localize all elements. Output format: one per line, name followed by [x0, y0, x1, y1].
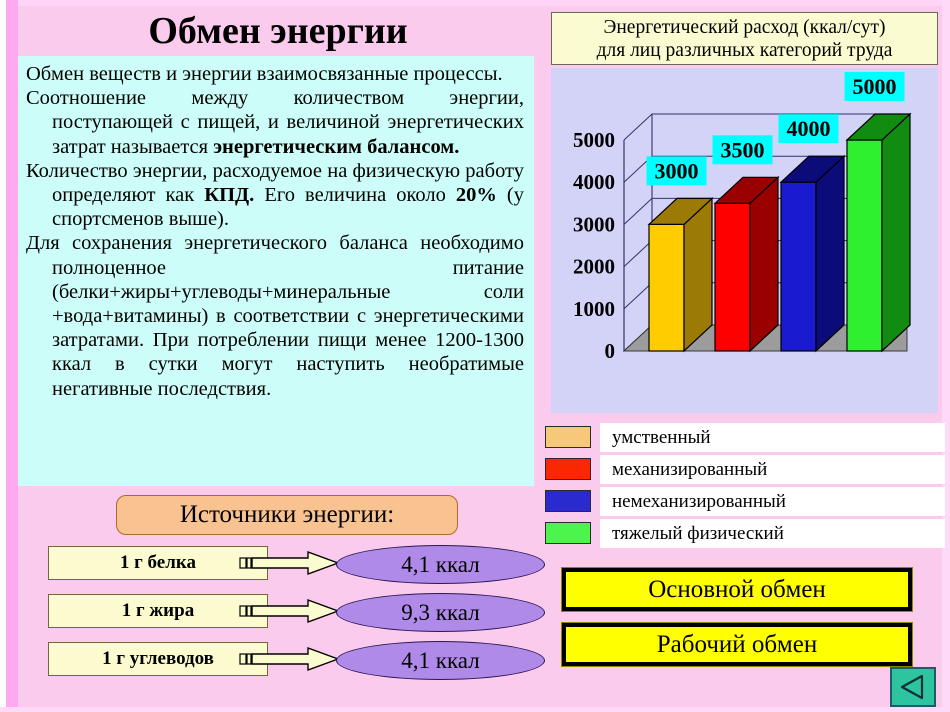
source-substance-label: 1 г жира	[122, 600, 194, 622]
body-text-panel: Обмен веществ и энергии взаимосвязанные …	[18, 56, 534, 486]
paragraph-1: Обмен веществ и энергии взаимосвязанные …	[26, 62, 524, 86]
legend-item: умственный	[545, 423, 945, 452]
chart-title-line1: Энергетический расход (ккал/сут)	[604, 16, 886, 39]
arrow-icon	[238, 550, 348, 576]
svg-text:5000: 5000	[853, 74, 897, 99]
paragraph-1-text: Обмен веществ и энергии взаимосвязанные …	[26, 63, 503, 85]
chart-title: Энергетический расход (ккал/сут) для лиц…	[551, 12, 938, 65]
legend-label: тяжелый физический	[600, 519, 945, 548]
source-energy-label: 9,3 ккал	[401, 600, 479, 626]
svg-text:3000: 3000	[573, 212, 615, 236]
source-substance-box: 1 г белка	[48, 546, 268, 580]
page-title: Обмен энергии	[18, 6, 538, 56]
paragraph-3-tail-before: Его величина около	[254, 184, 456, 206]
back-button[interactable]	[890, 667, 936, 707]
legend-label: механизированный	[600, 455, 945, 484]
legend-label: умственный	[600, 423, 945, 452]
slide-bottom-edge	[0, 707, 950, 712]
paragraph-4-text: Для сохранения энергетического баланса н…	[26, 232, 524, 399]
legend-swatch	[545, 426, 591, 448]
svg-text:1000: 1000	[573, 297, 615, 321]
chart-title-line2: для лиц различных категорий труда	[597, 39, 893, 62]
source-energy-value: 4,1 ккал	[336, 545, 545, 584]
legend-label: немеханизированный	[600, 487, 945, 516]
svg-text:5000: 5000	[573, 128, 615, 152]
legend-swatch	[545, 490, 591, 512]
source-row: 1 г углеводов 4,1 ккал	[48, 642, 503, 676]
svg-text:0: 0	[605, 339, 616, 363]
arrow-icon	[238, 598, 348, 624]
source-substance-label: 1 г белка	[120, 552, 196, 574]
source-substance-box: 1 г жира	[48, 594, 268, 628]
bar-chart: 0100020003000400050003000350040005000	[551, 68, 938, 413]
slide-right-edge	[942, 0, 950, 712]
svg-text:2000: 2000	[573, 255, 615, 279]
slide-canvas: Обмен энергии Обмен веществ и энергии вз…	[0, 0, 950, 712]
paragraph-4: Для сохранения энергетического баланса н…	[26, 231, 524, 400]
back-triangle-icon	[898, 674, 928, 700]
source-energy-label: 4,1 ккал	[401, 552, 479, 578]
work-metabolism-button[interactable]: Рабочий обмен	[562, 623, 912, 666]
legend-item: немеханизированный	[545, 487, 945, 516]
source-substance-label: 1 г углеводов	[102, 648, 214, 670]
term-percent: 20%	[456, 184, 497, 206]
paragraph-2: Соотношение между количеством энергии, п…	[26, 86, 524, 159]
source-energy-value: 9,3 ккал	[336, 593, 545, 632]
svg-text:3000: 3000	[655, 158, 699, 183]
term-energy-balance: энергетическим балансом.	[213, 136, 459, 158]
source-energy-value: 4,1 ккал	[336, 641, 545, 680]
svg-text:4000: 4000	[787, 116, 831, 141]
legend-item: механизированный	[545, 455, 945, 484]
source-substance-box: 1 г углеводов	[48, 642, 268, 676]
source-energy-label: 4,1 ккал	[401, 648, 479, 674]
term-kpd: КПД.	[204, 184, 254, 206]
svg-text:4000: 4000	[573, 170, 615, 194]
legend-swatch	[545, 522, 591, 544]
slide-left-magenta-edge	[6, 0, 18, 712]
legend-item: тяжелый физический	[545, 519, 945, 548]
paragraph-3: Количество энергии, расходуемое на физич…	[26, 159, 524, 232]
sources-header: Источники энергии:	[116, 495, 458, 535]
source-row: 1 г жира 9,3 ккал	[48, 594, 503, 628]
chart-legend: умственный механизированный немеханизиро…	[545, 423, 945, 551]
legend-swatch	[545, 458, 591, 480]
basal-metabolism-button[interactable]: Основной обмен	[562, 568, 912, 611]
arrow-icon	[238, 646, 348, 672]
svg-text:3500: 3500	[721, 137, 765, 162]
source-row: 1 г белка 4,1 ккал	[48, 546, 503, 580]
